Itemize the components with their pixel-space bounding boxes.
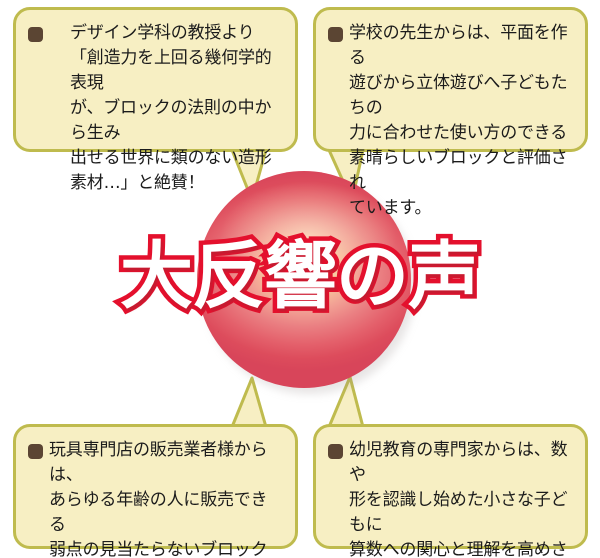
testimonial-bubble-top-right: 学校の先生からは、平面を作る 遊びから立体遊びへ子どもたちの 力に合わせた使い方…	[313, 7, 588, 152]
testimonial-bubble-top-left: デザイン学科の教授より 「創造力を上回る幾何学的表現 が、ブロックの法則の中から…	[13, 7, 298, 152]
square-bullet-icon	[28, 27, 43, 42]
testimonial-bubble-bottom-left: 玩具専門店の販売業者様からは、 あらゆる年齢の人に販売できる 弱点の見当たらない…	[13, 424, 298, 549]
testimonial-text: 幼児教育の専門家からは、数や 形を認識し始めた小さな子どもに 算数への関心と理解…	[328, 438, 573, 558]
testimonial-bubble-bottom-right: 幼児教育の専門家からは、数や 形を認識し始めた小さな子どもに 算数への関心と理解…	[313, 424, 588, 549]
testimonial-text: 玩具専門店の販売業者様からは、 あらゆる年齢の人に販売できる 弱点の見当たらない…	[28, 438, 283, 558]
testimonial-poster: 大反響の声 デザイン学科の教授より 「創造力を上回る幾何学的表現 が、ブロックの…	[0, 0, 600, 558]
page-title: 大反響の声	[0, 236, 600, 318]
testimonial-text: デザイン学科の教授より 「創造力を上回る幾何学的表現 が、ブロックの法則の中から…	[49, 21, 283, 196]
testimonial-text: 学校の先生からは、平面を作る 遊びから立体遊びへ子どもたちの 力に合わせた使い方…	[328, 21, 573, 221]
